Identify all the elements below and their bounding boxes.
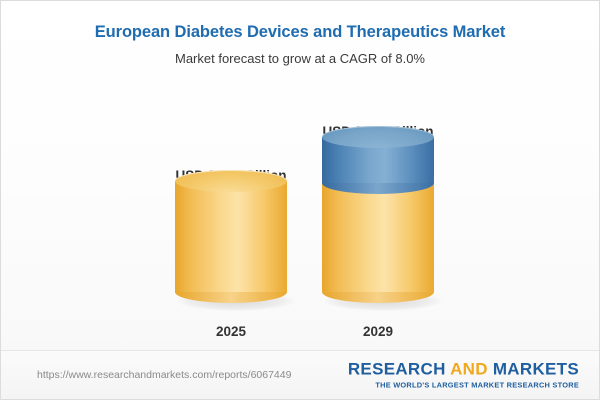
logo-word-and: AND [450,360,488,379]
research-and-markets-logo[interactable]: RESEARCH AND MARKETS THE WORLD'S LARGEST… [348,361,579,390]
category-label-2029: 2029 [363,324,393,339]
bar-segment-base-2025 [175,170,287,303]
plot-area: USD 25.93 Billion 2025 USD 35.27 Billion [1,83,600,341]
cylinder-2029 [322,126,434,303]
bar-segment-growth-2029 [322,126,434,194]
chart-subtitle: Market forecast to grow at a CAGR of 8.0… [1,42,599,66]
logo-word-markets: MARKETS [493,360,579,379]
logo-word-research: RESEARCH [348,360,446,379]
chart-card: European Diabetes Devices and Therapeuti… [0,0,600,400]
logo-tagline: THE WORLD'S LARGEST MARKET RESEARCH STOR… [348,380,579,389]
cylinder-top-cap-2029 [322,126,434,148]
logo-wordmark: RESEARCH AND MARKETS [348,361,579,379]
cylinder-top-cap-2025 [175,170,287,192]
category-label-2025: 2025 [216,324,246,339]
cylinder-body-base-2029 [322,181,434,292]
cylinder-body-2025 [175,181,287,292]
report-url[interactable]: https://www.researchandmarkets.com/repor… [37,369,291,381]
footer: https://www.researchandmarkets.com/repor… [1,350,600,399]
chart-title: European Diabetes Devices and Therapeuti… [1,1,599,42]
cylinder-2025 [175,170,287,303]
